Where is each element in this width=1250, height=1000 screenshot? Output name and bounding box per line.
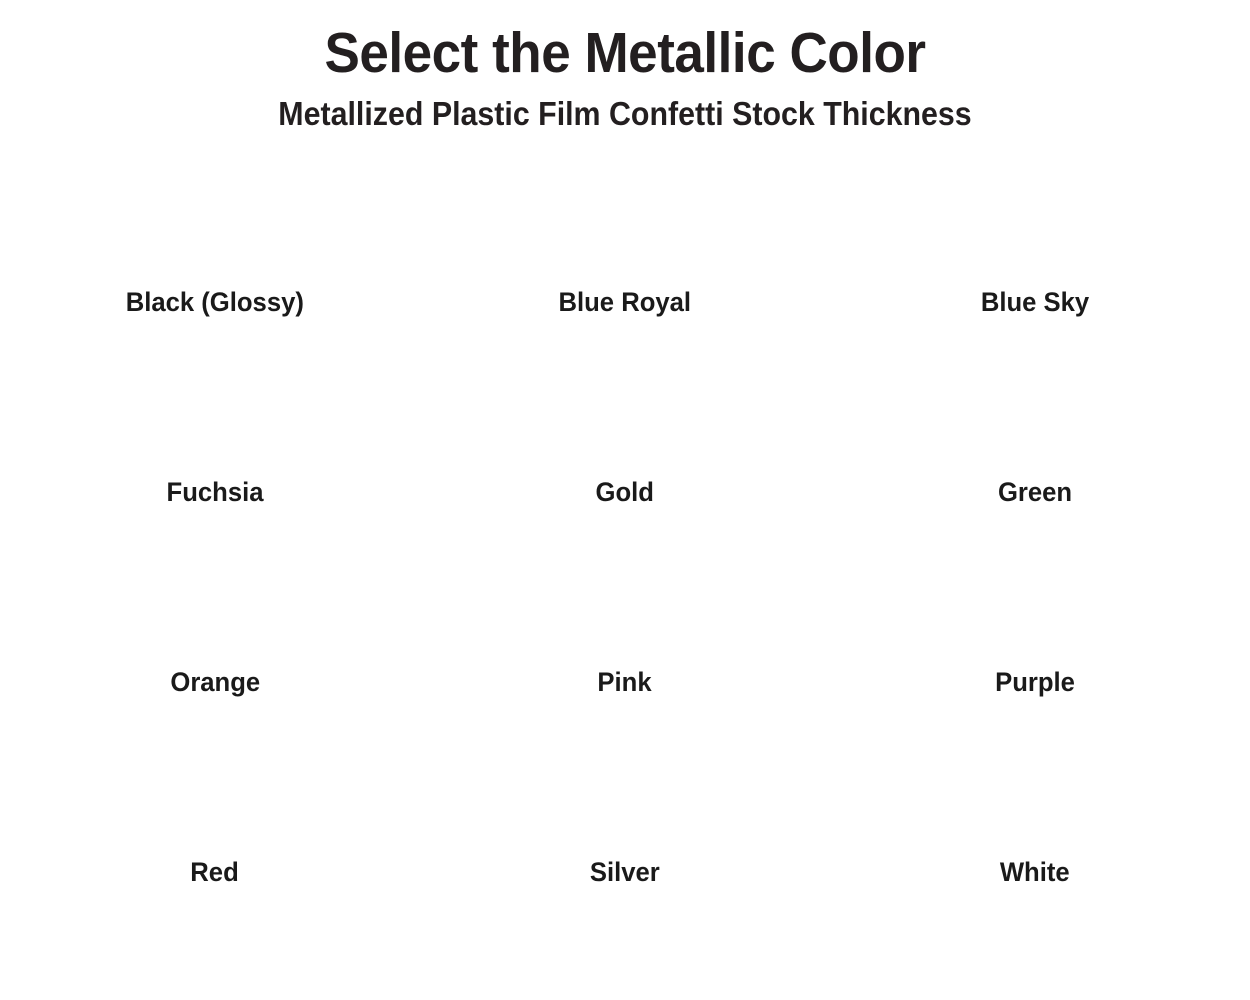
color-swatch-label: Green [998, 477, 1072, 508]
color-swatch-label: Fuchsia [167, 477, 264, 508]
wordart-letter: P [107, 759, 154, 828]
color-swatch-blue-sky[interactable]: SPARTANSBlue Sky [830, 164, 1240, 354]
spartans-wordart: SPARTANS [35, 734, 395, 839]
wordart-text: SPARTANS [901, 376, 1169, 438]
wordart-text: SPARTANS [81, 756, 349, 818]
color-swatch-orange[interactable]: SPARTANSOrange [10, 544, 420, 734]
wordart-letter: S [1127, 563, 1170, 629]
wordart-letter: A [1057, 759, 1103, 824]
wordart-letter: S [717, 373, 760, 439]
wordart-letter: S [1127, 373, 1170, 439]
spartans-wordart: SPARTANS [35, 354, 395, 459]
color-swatch-label: Pink [598, 667, 652, 698]
wordart-text: SPARTANS [491, 376, 759, 438]
color-swatch-purple[interactable]: SPARTANSPurple [830, 544, 1240, 734]
spartans-wordart: SPARTANS [855, 544, 1215, 649]
wordart-text: SPARTANS [491, 186, 759, 248]
wordart-letter: S [717, 753, 760, 819]
color-swatch-blue-royal[interactable]: SPARTANSBlue Royal [420, 164, 830, 354]
spartans-wordart: SPARTANS [855, 164, 1215, 269]
wordart-letter: P [927, 569, 974, 638]
wordart-text: SPARTANS [901, 566, 1169, 628]
color-swatch-black-glossy[interactable]: SPARTANSBlack (Glossy) [10, 164, 420, 354]
wordart-text: SPARTANS [491, 756, 759, 818]
color-swatch-label: Blue Royal [559, 287, 692, 318]
wordart-letter: A [237, 189, 283, 254]
wordart-letter: A [237, 569, 283, 634]
wordart-letter: A [237, 759, 283, 824]
wordart-text: SPARTANS [81, 566, 349, 628]
wordart-letter: S [307, 183, 350, 249]
wordart-letter: S [307, 373, 350, 439]
spartans-wordart: SPARTANS [35, 164, 395, 269]
wordart-text: SPARTANS [901, 186, 1169, 248]
wordart-letter: A [1057, 189, 1103, 254]
wordart-letter: P [927, 759, 974, 828]
wordart-letter: S [717, 563, 760, 629]
page-subtitle: Metallized Plastic Film Confetti Stock T… [50, 96, 1200, 132]
wordart-letter: P [517, 379, 564, 448]
color-swatch-label: Gold [596, 477, 654, 508]
wordart-letter: P [517, 569, 564, 638]
page-title: Select the Metallic Color [44, 24, 1207, 84]
wordart-letter: A [647, 379, 693, 444]
spartans-wordart: SPARTANS [445, 354, 805, 459]
wordart-letter: A [237, 379, 283, 444]
color-swatch-silver[interactable]: SPARTANSSilver [420, 734, 830, 924]
wordart-letter: S [307, 753, 350, 819]
color-swatch-label: Blue Sky [981, 287, 1089, 318]
wordart-letter: A [647, 189, 693, 254]
wordart-letter: P [517, 189, 564, 258]
spartans-wordart: SPARTANS [445, 734, 805, 839]
wordart-letter: P [107, 189, 154, 258]
wordart-letter: A [1057, 379, 1103, 444]
color-swatch-green[interactable]: SPARTANSGreen [830, 354, 1240, 544]
wordart-letter: S [1127, 753, 1170, 819]
color-swatch-gold[interactable]: SPARTANSGold [420, 354, 830, 544]
color-swatch-label: Silver [590, 857, 660, 888]
wordart-letter: S [1127, 183, 1170, 249]
wordart-letter: P [927, 189, 974, 258]
wordart-letter: S [717, 183, 760, 249]
wordart-letter: P [107, 569, 154, 638]
wordart-letter: P [927, 379, 974, 448]
color-swatch-label: Orange [170, 667, 260, 698]
wordart-text: SPARTANS [901, 756, 1169, 818]
wordart-letter: A [647, 759, 693, 824]
wordart-letter: P [107, 379, 154, 448]
page-header: Select the Metallic Color Metallized Pla… [0, 0, 1250, 132]
color-swatch-label: White [1000, 857, 1070, 888]
spartans-wordart: SPARTANS [445, 544, 805, 649]
color-swatch-grid: SPARTANSBlack (Glossy)SPARTANSBlue Royal… [0, 164, 1250, 924]
spartans-wordart: SPARTANS [855, 354, 1215, 459]
spartans-wordart: SPARTANS [445, 164, 805, 269]
wordart-letter: A [647, 569, 693, 634]
color-swatch-fuchsia[interactable]: SPARTANSFuchsia [10, 354, 420, 544]
color-swatch-white[interactable]: SPARTANSWhite [830, 734, 1240, 924]
color-swatch-red[interactable]: SPARTANSRed [10, 734, 420, 924]
color-swatch-label: Purple [995, 667, 1075, 698]
color-swatch-pink[interactable]: SPARTANSPink [420, 544, 830, 734]
color-swatch-label: Red [191, 857, 239, 888]
wordart-letter: P [517, 759, 564, 828]
wordart-text: SPARTANS [81, 186, 349, 248]
spartans-wordart: SPARTANS [35, 544, 395, 649]
wordart-letter: S [307, 563, 350, 629]
spartans-wordart: SPARTANS [855, 734, 1215, 839]
wordart-text: SPARTANS [81, 376, 349, 438]
wordart-letter: A [1057, 569, 1103, 634]
wordart-text: SPARTANS [491, 566, 759, 628]
color-swatch-label: Black (Glossy) [126, 287, 304, 318]
